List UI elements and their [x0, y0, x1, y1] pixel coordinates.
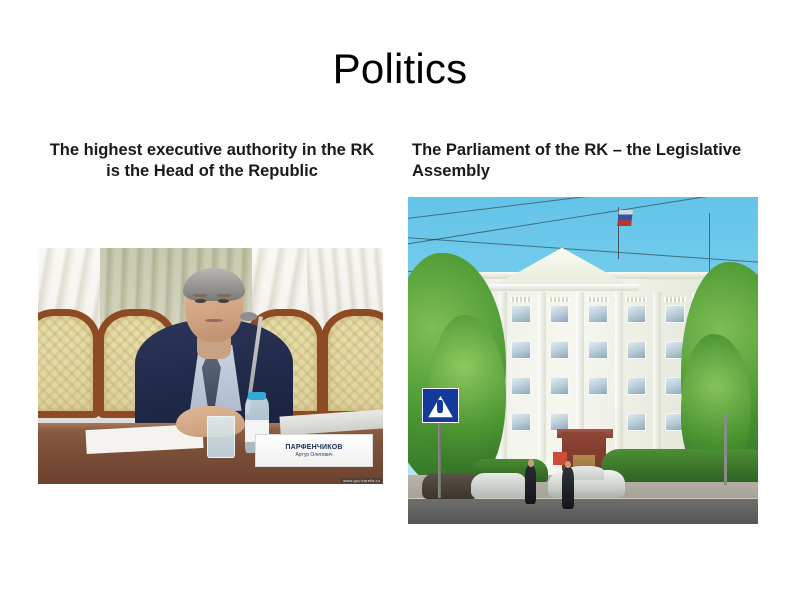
- hedge: [601, 449, 759, 482]
- conference-chair: [321, 309, 383, 418]
- pedestrian: [562, 467, 574, 510]
- window-ornament: [548, 297, 570, 302]
- window-ornament: [625, 297, 647, 302]
- russian-flag: [617, 210, 633, 226]
- building-window: [550, 305, 570, 323]
- pedestrian-head: [528, 459, 534, 467]
- nameplate-given-name: Артур Олегович: [295, 452, 332, 458]
- left-caption-text: The highest executive authority in the R…: [38, 140, 386, 182]
- building-window: [627, 305, 647, 323]
- microphone-head: [240, 312, 257, 321]
- water-glass: [207, 416, 235, 458]
- facade-pilaster: [615, 292, 623, 462]
- right-content-column: The Parliament of the RK – the Legislati…: [412, 140, 760, 182]
- building-window: [511, 305, 531, 323]
- facade-pilaster: [538, 292, 546, 462]
- eye-left: [195, 299, 206, 303]
- nameplate-surname: ПАРФЕНЧИКОВ: [285, 444, 342, 451]
- window-ornament: [664, 297, 686, 302]
- building-window: [550, 341, 570, 359]
- mouth: [205, 319, 222, 322]
- right-caption-text: The Parliament of the RK – the Legislati…: [412, 140, 760, 182]
- left-content-column: The highest executive authority in the R…: [38, 140, 386, 182]
- legislative-assembly-building-photo: [408, 197, 758, 524]
- window-ornament: [587, 297, 609, 302]
- building-window: [550, 377, 570, 395]
- water-bottle-cap: [248, 392, 265, 400]
- parliament-photo-scene: [408, 197, 758, 524]
- eye-right: [218, 299, 229, 303]
- page-title: Politics: [0, 47, 800, 91]
- building-window: [627, 341, 647, 359]
- building-window: [588, 341, 608, 359]
- window-ornament: [510, 297, 532, 302]
- building-window: [627, 377, 647, 395]
- parked-car: [422, 473, 478, 499]
- head-of-republic-photo: ПАРФЕНЧИКОВ Артур Олегович www.gov.karel…: [38, 248, 383, 484]
- pedestrian-crossing-sign-figure: [437, 400, 442, 413]
- parked-car: [471, 473, 527, 498]
- pediment-cornice: [485, 284, 639, 292]
- building-window: [511, 341, 531, 359]
- sign-post: [438, 413, 441, 498]
- building-window: [588, 305, 608, 323]
- conference-chair: [38, 309, 100, 418]
- facade-pilaster: [653, 292, 661, 462]
- building-window: [665, 305, 685, 323]
- building-window: [511, 377, 531, 395]
- road: [408, 499, 758, 524]
- lamp-post: [724, 413, 726, 485]
- building-window: [627, 413, 647, 431]
- desk-nameplate: ПАРФЕНЧИКОВ Артур Олегович: [255, 434, 372, 467]
- head-of-republic-photo-scene: ПАРФЕНЧИКОВ Артур Олегович www.gov.karel…: [38, 248, 383, 484]
- building-window: [588, 377, 608, 395]
- building-window: [511, 413, 531, 431]
- photo-watermark: www.gov.karelia.ru: [341, 478, 382, 483]
- pedestrian: [525, 465, 536, 504]
